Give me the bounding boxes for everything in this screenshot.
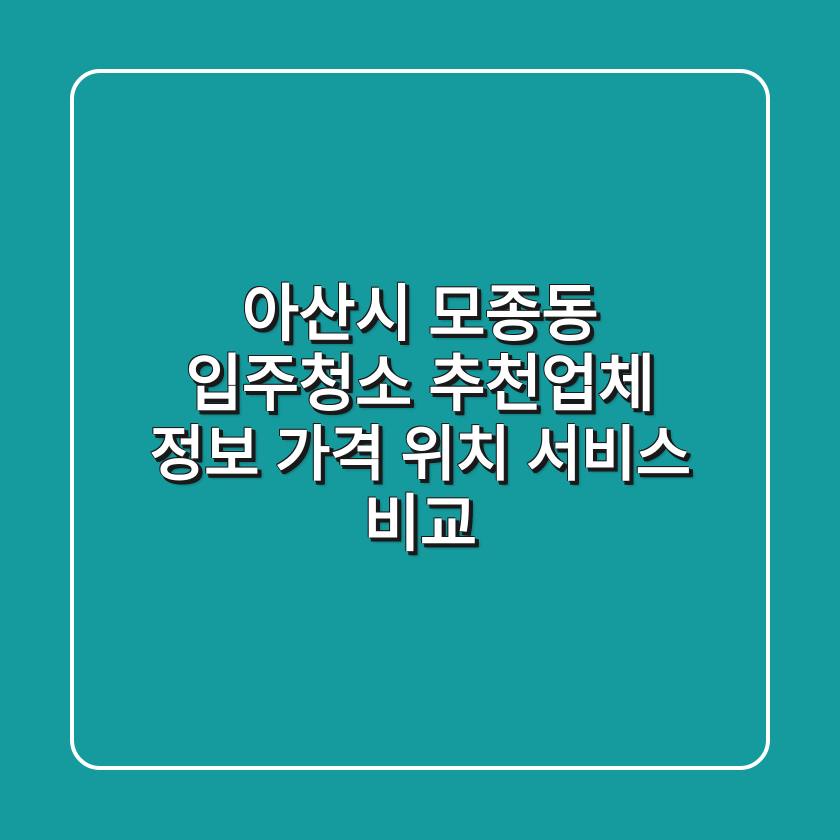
thumbnail-canvas: 아산시 모종동 입주청소 추천업체 정보 가격 위치 서비스 비교	[0, 0, 840, 840]
headline-line-4: 비교	[80, 490, 760, 560]
headline-line-1: 아산시 모종동	[80, 280, 760, 350]
headline-block: 아산시 모종동 입주청소 추천업체 정보 가격 위치 서비스 비교	[70, 69, 770, 770]
headline-line-2: 입주청소 추천업체	[80, 350, 760, 420]
headline-line-3: 정보 가격 위치 서비스	[80, 420, 760, 490]
